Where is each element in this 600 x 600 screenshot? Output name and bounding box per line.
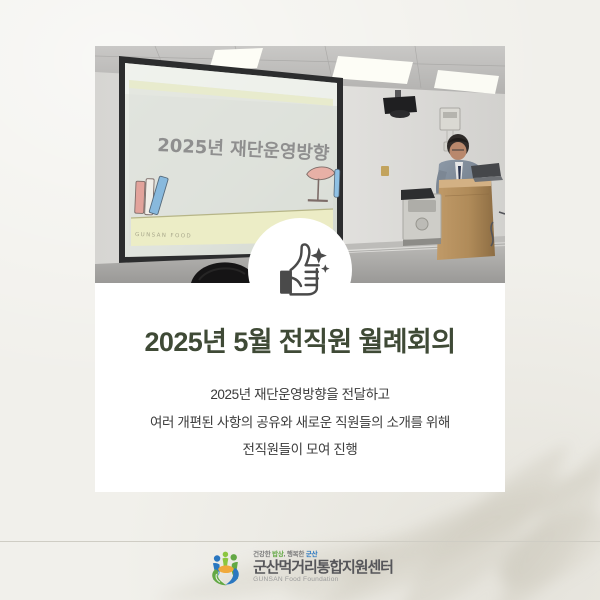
- page-title: 2025년 5월 전직원 월례회의: [95, 327, 505, 358]
- organization-name-en: GUNSAN Food Foundation: [253, 577, 393, 584]
- tagline-highlight-blue: 군산: [306, 551, 318, 558]
- thumbs-up-badge: [248, 218, 352, 322]
- organization-name-ko: 군산먹거리통합지원센터: [253, 560, 393, 575]
- tagline-part-2: , 행복한: [284, 551, 306, 558]
- gunsan-food-foundation-symbol-icon: [207, 549, 245, 587]
- description-line-3: 전직원들이 모여 진행: [95, 436, 505, 464]
- description-line-2: 여러 개편된 사항의 공유와 새로운 직원들의 소개를 위해: [95, 409, 505, 437]
- description-line-1: 2025년 재단운영방향을 전달하고: [95, 381, 505, 409]
- footer-divider: [0, 541, 600, 542]
- thumbs-up-icon: [270, 240, 330, 300]
- tagline-part-1: 건강한: [253, 551, 272, 558]
- footer-logo-text: 건강한 밥상, 행복한 군산 군산먹거리통합지원센터 GUNSAN Food F…: [253, 552, 393, 584]
- footer-logo: 건강한 밥상, 행복한 군산 군산먹거리통합지원센터 GUNSAN Food F…: [0, 546, 600, 590]
- poster-canvas: 2025년 재단운영방향 GUNSAN FOOD: [0, 0, 600, 600]
- footer-tagline: 건강한 밥상, 행복한 군산: [253, 552, 393, 559]
- description-block: 2025년 재단운영방향을 전달하고 여러 개편된 사항의 공유와 새로운 직원…: [95, 381, 505, 464]
- tagline-highlight-green: 밥상: [272, 551, 284, 558]
